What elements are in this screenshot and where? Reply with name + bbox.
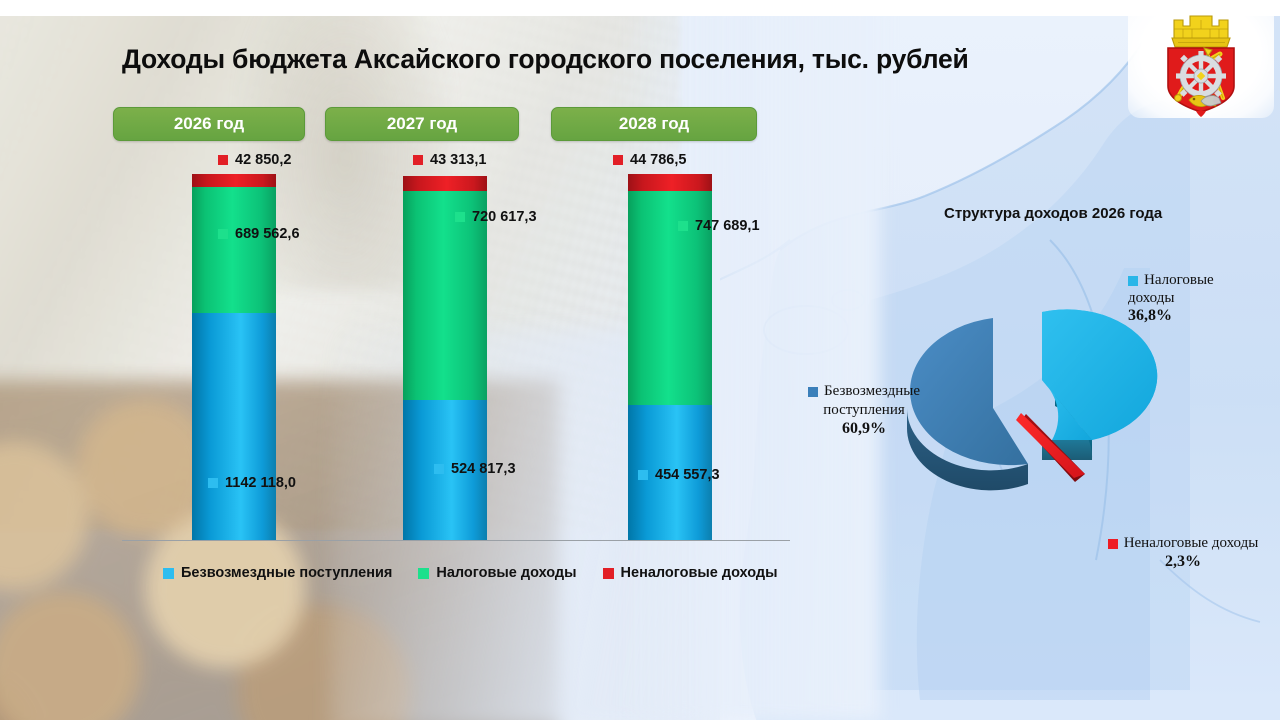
bar-2028-label-grants: 454 557,3: [638, 467, 720, 483]
swatch-green-icon: [418, 568, 429, 579]
swatch-red-icon: [218, 155, 228, 165]
bar-2026-label-grants: 1142 118,0: [208, 475, 296, 491]
page-title: Доходы бюджета Аксайского городского пос…: [122, 44, 1102, 75]
year-button-2028[interactable]: 2028 год: [551, 107, 757, 141]
bar-2026-segment-tax: [192, 187, 276, 313]
swatch-blue-icon: [434, 464, 444, 474]
presentation-slide: Доходы бюджета Аксайского городского пос…: [0, 0, 1280, 720]
swatch-red-icon: [613, 155, 623, 165]
pie-label-nontax-percent: 2,3%: [1165, 553, 1201, 570]
bar-2026-segment-nontax: [192, 174, 276, 187]
pie-label-nontax-name: Неналоговые доходы: [1124, 535, 1259, 551]
pie-label-tax: Налоговые доходы 36,8%: [1128, 272, 1258, 326]
background-top-strip: [0, 0, 1280, 16]
year-button-2026[interactable]: 2026 год: [113, 107, 305, 141]
swatch-pie-grants-icon: [808, 387, 818, 397]
legend-label-tax: Налоговые доходы: [436, 565, 576, 581]
pie-chart-title: Структура доходов 2026 года: [944, 205, 1244, 222]
year-button-2027[interactable]: 2027 год: [325, 107, 519, 141]
pie-label-grants-name: Безвозмездные поступления: [823, 383, 920, 418]
swatch-blue-icon: [638, 470, 648, 480]
bar-2026-segment-grants: [192, 313, 276, 540]
swatch-green-icon: [218, 229, 228, 239]
emblem-card: [1128, 2, 1274, 118]
pie-label-tax-name: Налоговые доходы: [1128, 272, 1214, 306]
bar-2027-segment-nontax: [403, 176, 487, 191]
swatch-pie-tax-icon: [1128, 276, 1138, 286]
legend-label-grants: Безвозмездные поступления: [181, 565, 392, 581]
legend-item-nontax[interactable]: Неналоговые доходы: [603, 565, 778, 581]
swatch-red-icon: [603, 568, 614, 579]
pie-label-nontax: Неналоговые доходы 2,3%: [1098, 534, 1268, 572]
swatch-green-icon: [455, 212, 465, 222]
bar-2027: [403, 176, 487, 540]
bar-2028-label-nontax: 44 786,5: [613, 152, 686, 168]
coat-of-arms-icon: [1128, 2, 1274, 118]
bar-2026-label-tax: 689 562,6: [218, 226, 300, 242]
pie-label-grants: Безвозмездные поступления 60,9%: [808, 382, 920, 439]
pie-label-tax-percent: 36,8%: [1128, 307, 1172, 324]
swatch-red-icon: [413, 155, 423, 165]
pie-slice-tax-top[interactable]: [1042, 309, 1157, 440]
swatch-blue-icon: [163, 568, 174, 579]
bar-2028-label-tax: 747 689,1: [678, 218, 760, 234]
swatch-green-icon: [678, 221, 688, 231]
bar-2026-label-nontax: 42 850,2: [218, 152, 291, 168]
pie-slice-grants-top[interactable]: [910, 318, 1028, 465]
bar-2027-label-tax: 720 617,3: [455, 209, 537, 225]
bar-2027-label-nontax: 43 313,1: [413, 152, 486, 168]
bar-2027-label-grants: 524 817,3: [434, 461, 516, 477]
pie-label-grants-percent: 60,9%: [842, 420, 886, 437]
swatch-pie-nontax-icon: [1108, 539, 1118, 549]
legend-item-tax[interactable]: Налоговые доходы: [418, 565, 576, 581]
bar-2028-segment-nontax: [628, 174, 712, 191]
chart-baseline: [122, 540, 790, 541]
legend-label-nontax: Неналоговые доходы: [621, 565, 778, 581]
bar-chart-legend: Безвозмездные поступления Налоговые дохо…: [163, 565, 778, 581]
swatch-blue-icon: [208, 478, 218, 488]
legend-item-grants[interactable]: Безвозмездные поступления: [163, 565, 392, 581]
